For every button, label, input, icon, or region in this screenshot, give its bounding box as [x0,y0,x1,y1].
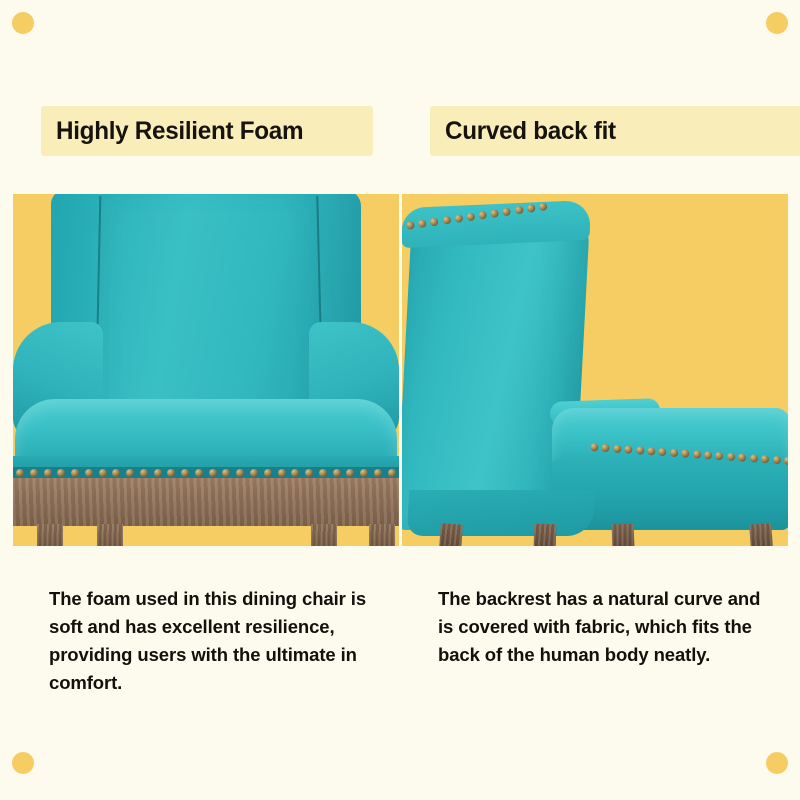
nailhead-stud-icon [784,456,788,465]
nailhead-stud-icon [406,221,415,230]
nailhead-stud-icon [490,209,499,218]
nailhead-stud-icon [538,202,547,211]
feature-panel-curved-back: Curved back fit [402,0,788,800]
nailhead-stud-icon [236,469,244,477]
nailhead-stud-icon [195,469,203,477]
nailhead-stud-icon [16,469,24,477]
chair-leg [534,524,557,546]
chair-back-base [407,490,595,536]
nailhead-stud-icon [44,469,52,477]
nailhead-stud-icon [761,455,770,464]
product-photo-foam [13,194,399,546]
nailhead-stud-icon [222,469,230,477]
chair-leg [311,524,337,546]
chair-leg [369,524,395,546]
nailhead-stud-icon [478,211,487,220]
heading-text-foam: Highly Resilient Foam [56,117,303,146]
nailhead-stud-icon [670,449,679,458]
nailhead-stud-icon [590,443,599,452]
nailhead-stud-icon [291,469,299,477]
nailhead-stud-icon [99,469,107,477]
heading-text-curved-back: Curved back fit [445,117,616,146]
nailhead-stud-icon [250,469,258,477]
nailhead-stud-icon [154,469,162,477]
nailhead-stud-icon [715,452,724,461]
nailhead-stud-icon [57,469,65,477]
nailhead-stud-icon [738,453,747,462]
nailhead-stud-icon [30,469,38,477]
nailhead-stud-icon [278,469,286,477]
nailhead-stud-icon [181,469,189,477]
nailhead-stud-icon [502,207,511,216]
nailhead-stud-icon [167,469,175,477]
feature-panel-foam: Highly Resilient Foam [13,0,399,800]
nailhead-stud-icon [613,445,622,454]
nailhead-stud-icon [681,449,690,458]
nailhead-stud-icon [126,469,134,477]
nailhead-stud-icon [727,453,736,462]
nailhead-stud-icon [749,454,758,463]
nailhead-stud-icon [693,450,702,459]
nailhead-stud-icon [526,204,535,213]
nailhead-stud-icon [454,214,463,223]
nailhead-stud-icon [264,469,272,477]
nailhead-stud-icon [305,469,313,477]
chair-leg [97,524,123,546]
nailhead-stud-icon [112,469,120,477]
chair-back-cushion [99,194,319,422]
nailhead-stud-icon [209,469,217,477]
caption-curved-back: The backrest has a natural curve and is … [438,585,774,669]
infographic-page: Highly Resilient Foam [0,0,800,800]
chair-leg [749,523,773,546]
chair-leg [37,524,63,546]
heading-chip-curved-back: Curved back fit [430,106,800,156]
nailhead-stud-icon [636,446,645,455]
nailhead-stud-icon [624,445,633,454]
nailhead-stud-icon [601,444,610,453]
nailhead-stud-icon [418,219,427,228]
chair-leg [439,523,463,546]
nailhead-stud-icon [430,217,439,226]
nailhead-stud-icon [374,469,382,477]
nailhead-stud-icon [466,212,475,221]
nailhead-stud-icon [658,448,667,457]
nailhead-stud-icon [319,469,327,477]
caption-foam: The foam used in this dining chair is so… [49,585,379,697]
chair-wood-apron [13,478,399,526]
nailhead-stud-icon [85,469,93,477]
nailhead-stud-icon [442,216,451,225]
nailhead-stud-icon [514,206,523,215]
nailhead-stud-icon [772,456,781,465]
nailhead-stud-icon [388,469,396,477]
nailhead-stud-icon [346,469,354,477]
nailhead-stud-icon [333,469,341,477]
nailhead-stud-icon [704,451,713,460]
nailhead-stud-icon [140,469,148,477]
nailhead-stud-icon [647,447,656,456]
product-photo-curved-back [402,194,788,546]
nailhead-stud-icon [360,469,368,477]
heading-chip-foam: Highly Resilient Foam [41,106,373,156]
nailhead-stud-icon [71,469,79,477]
chair-leg [612,524,635,546]
